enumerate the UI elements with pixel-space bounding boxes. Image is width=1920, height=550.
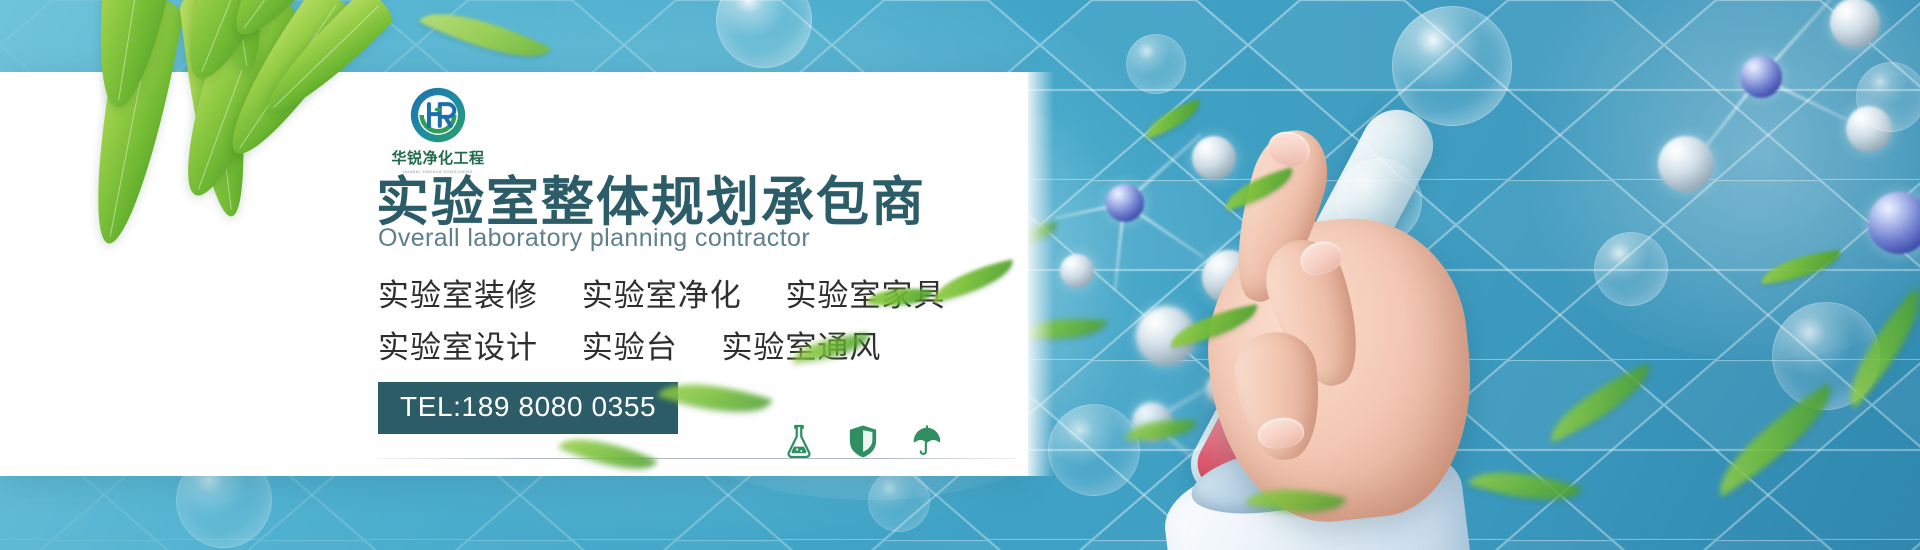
divider: [376, 458, 1016, 459]
service-item: 实验室装修: [378, 278, 538, 314]
service-item: 实验台: [582, 330, 678, 366]
phone-button[interactable]: TEL:189 8080 0355: [378, 382, 678, 434]
bubble: [1856, 62, 1920, 132]
services-line-1: 实验室装修 实验室净化 实验室家具: [378, 270, 945, 315]
bubble: [1048, 404, 1140, 496]
shield-icon: [848, 424, 878, 458]
hr-circle-logo-icon: [409, 86, 467, 144]
molecule-cluster-right: [1640, 0, 1920, 280]
banner-root: 华锐净化工程 HUARUI JINGHUA GONGCHENG 实验室整体规划承…: [0, 0, 1920, 550]
bubble: [868, 470, 930, 532]
umbrella-icon: [912, 424, 942, 458]
feature-icon-row: [784, 424, 942, 458]
service-item: 实验室净化: [582, 278, 742, 314]
content-panel: 华锐净化工程 HUARUI JINGHUA GONGCHENG 实验室整体规划承…: [0, 72, 1028, 476]
flask-icon: [784, 424, 814, 458]
service-item: 实验室设计: [378, 330, 538, 366]
bamboo-leaf-group: [0, 72, 430, 412]
subheadline: Overall laboratory planning contractor: [378, 224, 810, 253]
